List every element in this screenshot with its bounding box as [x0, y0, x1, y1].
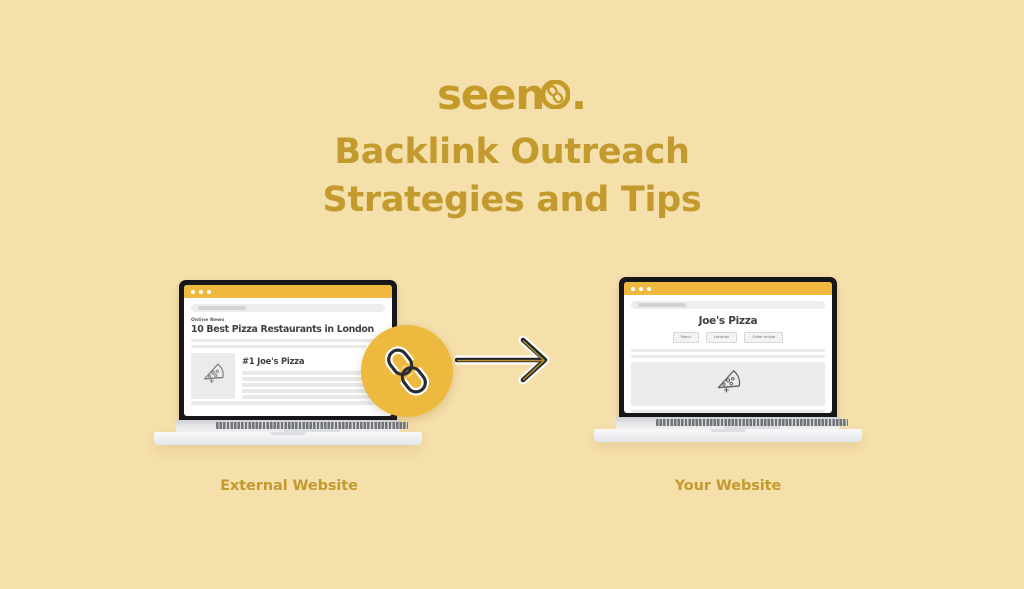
- browser-window-external: Online News 10 Best Pizza Restaurants in…: [184, 285, 392, 416]
- nav-button-location[interactable]: Location: [706, 332, 738, 343]
- nav-button-order-online[interactable]: Order online: [744, 332, 783, 343]
- text-placeholder-line: [631, 410, 825, 413]
- text-placeholder-line: [242, 395, 385, 398]
- laptop-notch: [710, 429, 746, 432]
- your-website-laptop: Joe's Pizza Menu Location Order online: [592, 277, 864, 457]
- text-placeholder-line: [631, 355, 825, 358]
- text-placeholder-line: [191, 401, 385, 404]
- text-placeholder-line: [191, 345, 366, 348]
- page-title: Backlink Outreach Strategies and Tips: [0, 128, 1024, 224]
- chrome-dot-minimize[interactable]: [199, 290, 203, 294]
- laptop-keyboard: [216, 422, 408, 429]
- arrow-right-icon: [455, 330, 565, 390]
- caption-your-website: Your Website: [578, 478, 878, 494]
- text-placeholder-line: [191, 339, 385, 342]
- laptop-notch: [270, 432, 306, 435]
- chrome-dot-close[interactable]: [191, 290, 195, 294]
- laptop-lid: Joe's Pizza Menu Location Order online: [619, 277, 837, 419]
- brand-logo: seen.: [0, 72, 1024, 118]
- caption-external-website: External Website: [139, 478, 439, 494]
- brand-dot: .: [571, 72, 587, 118]
- chain-link-icon: [361, 325, 453, 417]
- address-bar[interactable]: [191, 304, 385, 312]
- browser-viewport-your-site: Joe's Pizza Menu Location Order online: [624, 295, 832, 413]
- browser-window-your-site: Joe's Pizza Menu Location Order online: [624, 282, 832, 413]
- laptop-keyboard: [656, 419, 848, 426]
- browser-viewport-external: Online News 10 Best Pizza Restaurants in…: [184, 298, 392, 416]
- article-listing-row: #1 Joe's Pizza: [191, 353, 385, 401]
- chrome-dot-minimize[interactable]: [639, 287, 643, 291]
- article-headline: 10 Best Pizza Restaurants in London: [191, 324, 385, 335]
- browser-chrome-bar: [624, 282, 832, 295]
- site-title: Joe's Pizza: [631, 315, 825, 327]
- headline-line-1: Backlink Outreach: [0, 128, 1024, 176]
- brand-wordmark: seen: [437, 72, 544, 118]
- chrome-dot-close[interactable]: [631, 287, 635, 291]
- text-placeholder-line: [242, 389, 385, 392]
- chrome-dot-maximize[interactable]: [207, 290, 211, 294]
- poster-canvas: seen. Backlink Outreach Strategies and T…: [0, 0, 1024, 589]
- nav-button-menu[interactable]: Menu: [673, 332, 699, 343]
- article-kicker: Online News: [191, 318, 385, 323]
- article-thumbnail: [191, 353, 235, 399]
- text-placeholder-line: [631, 349, 825, 352]
- hero-image-block: [631, 362, 825, 406]
- link-chain-icon: [541, 80, 570, 109]
- browser-chrome-bar: [184, 285, 392, 298]
- pizza-slice-icon: [199, 360, 227, 393]
- site-nav: Menu Location Order online: [631, 332, 825, 343]
- headline-line-2: Strategies and Tips: [0, 176, 1024, 224]
- chrome-dot-maximize[interactable]: [647, 287, 651, 291]
- laptop-base: [152, 420, 424, 450]
- address-bar[interactable]: [631, 301, 825, 309]
- laptop-base: [592, 417, 864, 447]
- pizza-slice-icon: [712, 366, 744, 403]
